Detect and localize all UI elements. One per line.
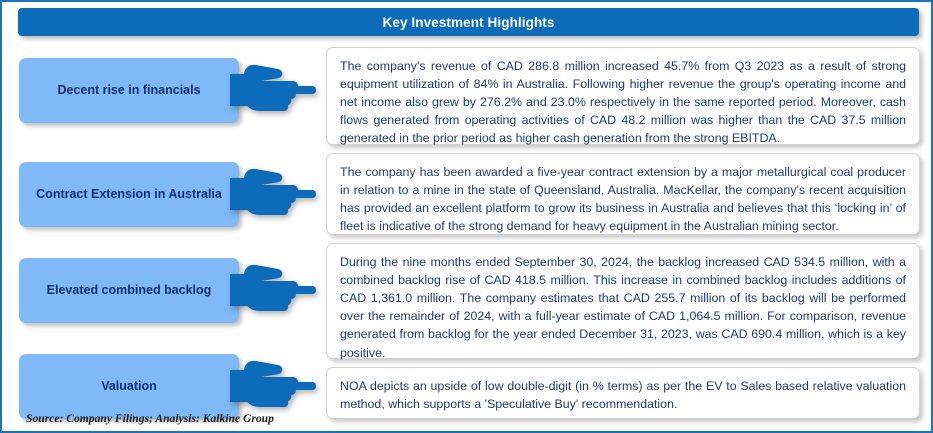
tag-box-elevated-combined-backlog[interactable]: Elevated combined backlog [19,258,239,323]
highlight-card-valuation: NOA depicts an upside of low double-digi… [326,367,920,419]
highlight-card-backlog: During the nine months ended September 3… [326,243,920,359]
highlight-body-text: During the nine months ended September 3… [340,253,906,362]
pointing-hand-right-icon [230,258,316,320]
highlight-body-text: NOA depicts an upside of low double-digi… [340,377,906,413]
infographic-frame: Key Investment Highlights Decent rise in… [0,0,933,433]
page-title: Key Investment Highlights [382,15,554,30]
tag-label: Decent rise in financials [57,82,200,99]
pointing-hand-right-icon [230,58,316,120]
tag-label: Valuation [101,378,157,395]
source-note: Source: Company Filings; Analysis: Kalki… [26,412,274,425]
highlight-body-text: The company's revenue of CAD 286.8 milli… [340,57,906,148]
tag-label: Contract Extension in Australia [36,186,222,203]
tag-box-contract-extension-in-australia[interactable]: Contract Extension in Australia [19,162,239,227]
highlight-body-text: The company has been awarded a five-year… [340,163,906,235]
highlight-card-financials: The company's revenue of CAD 286.8 milli… [326,47,920,145]
pointing-hand-right-icon [230,162,316,224]
pointing-hand-right-icon [230,354,316,416]
highlight-card-contract-extension: The company has been awarded a five-year… [326,153,920,235]
highlight-tag-column: Decent rise in financials Contract Exten… [2,42,322,407]
tag-label: Elevated combined backlog [47,282,212,299]
header-banner: Key Investment Highlights [18,8,919,36]
tag-box-valuation[interactable]: Valuation [19,354,239,419]
tag-box-decent-rise-in-financials[interactable]: Decent rise in financials [19,58,239,123]
